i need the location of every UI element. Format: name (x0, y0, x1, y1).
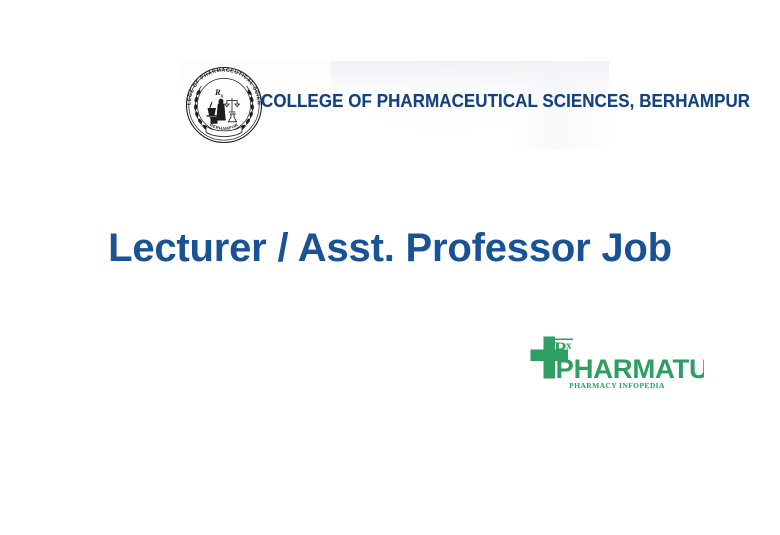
college-seal-icon: COLLEGE OF PHARMACEUTICAL SCIENCES (181, 62, 267, 148)
pharmatutor-tagline: PHARMACY INFOPEDIA (569, 381, 665, 390)
college-banner: COLLEGE OF PHARMACEUTICAL SCIENCES (181, 61, 609, 149)
poster-canvas: COLLEGE OF PHARMACEUTICAL SCIENCES (0, 0, 780, 535)
svg-text:x: x (220, 94, 224, 100)
college-banner-wordmark: COLLEGE OF PHARMACEUTICAL SCIENCES, BERH… (261, 88, 579, 114)
pharmatutor-wordmark: PHARMATUTOR (556, 353, 704, 384)
svg-text:x: x (566, 340, 572, 352)
page-title: Lecturer / Asst. Professor Job (0, 224, 780, 272)
pharmatutor-logo: R x PHARMATUTOR PHARMACY INFOPEDIA (528, 333, 704, 395)
